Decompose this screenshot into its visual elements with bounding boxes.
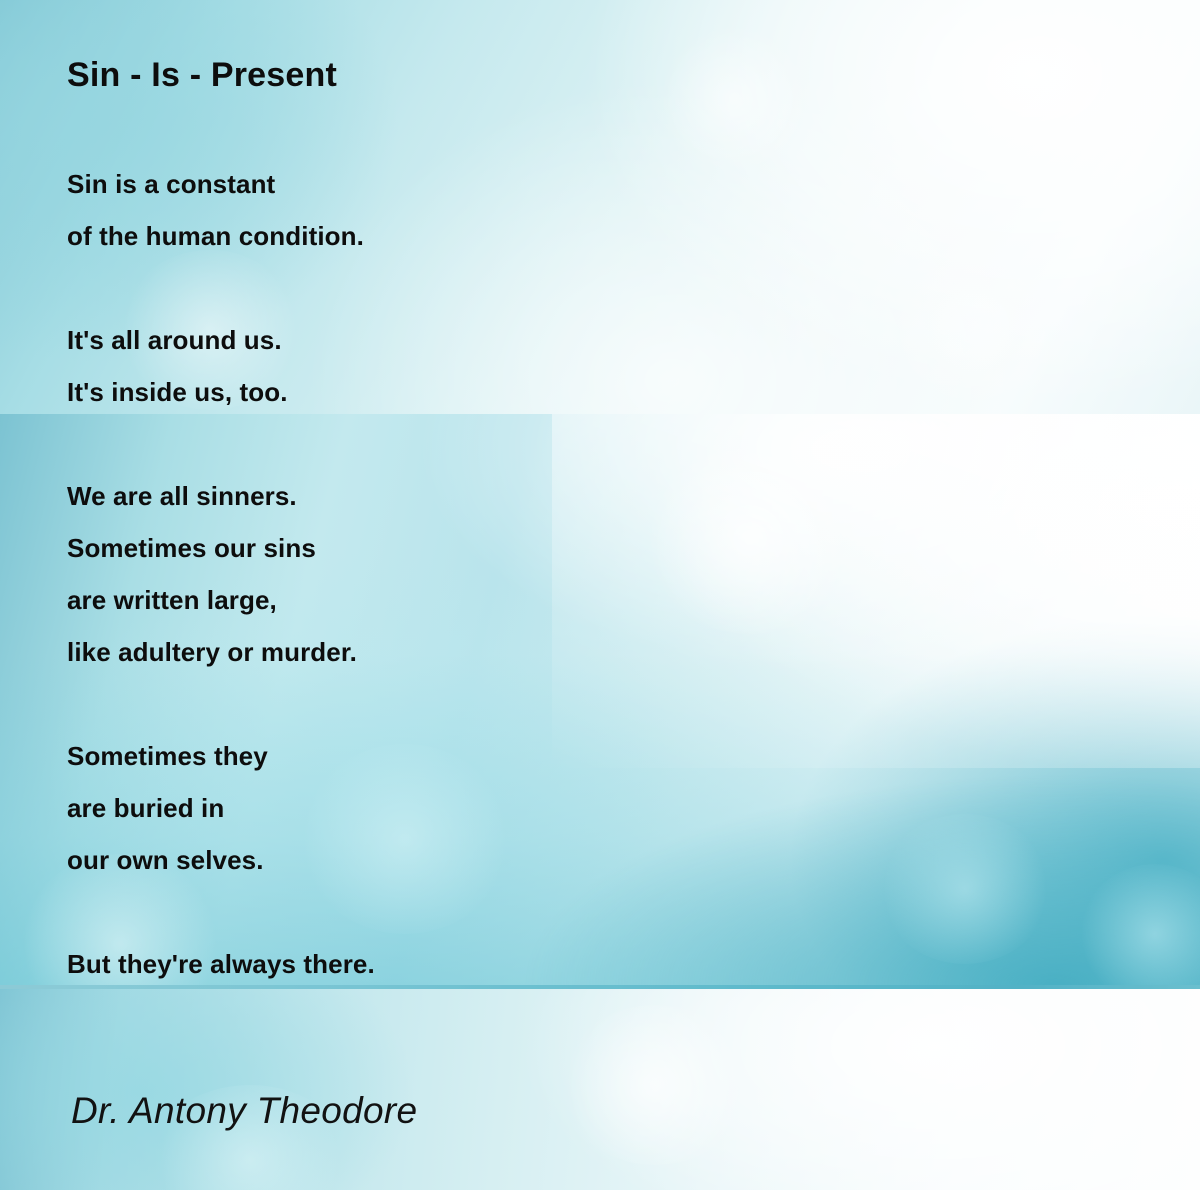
poem-line: are written large,: [67, 574, 967, 626]
poem-stanza-break: [67, 418, 967, 470]
poem-title: Sin - Is - Present: [67, 56, 337, 95]
poem-line: Sin is a constant: [67, 158, 967, 210]
poem-line: But they're always there.: [67, 938, 967, 990]
poem-line: like adultery or murder.: [67, 626, 967, 678]
poem-line: Sometimes our sins: [67, 522, 967, 574]
poem-line: We are all sinners.: [67, 470, 967, 522]
poem-stanza-break: [67, 262, 967, 314]
poem-line: are buried in: [67, 782, 967, 834]
poem-line: It's inside us, too.: [67, 366, 967, 418]
poem-line: of the human condition.: [67, 210, 967, 262]
poem-stanza-break: [67, 678, 967, 730]
poem-body: Sin is a constant of the human condition…: [67, 158, 967, 990]
poem-author: Dr. Antony Theodore: [71, 1090, 417, 1132]
poem-image-card: Sin - Is - Present Sin is a constant of …: [0, 0, 1200, 1190]
poem-line: our own selves.: [67, 834, 967, 886]
poem-line: It's all around us.: [67, 314, 967, 366]
poem-text-layer: Sin - Is - Present Sin is a constant of …: [0, 0, 1200, 1190]
poem-line: Sometimes they: [67, 730, 967, 782]
poem-stanza-break: [67, 886, 967, 938]
